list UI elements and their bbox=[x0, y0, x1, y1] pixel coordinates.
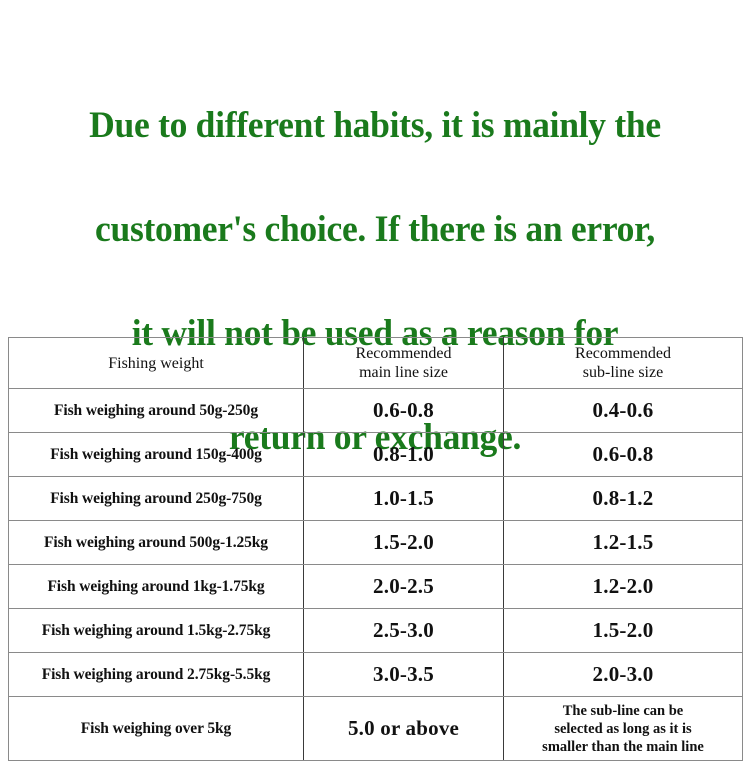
cell-main-line: 3.0-3.5 bbox=[304, 653, 504, 697]
column-header-main-line: Recommended main line size bbox=[304, 338, 504, 389]
cell-sub-line: 0.8-1.2 bbox=[504, 477, 743, 521]
cell-weight: Fish weighing around 500g-1.25kg bbox=[9, 521, 304, 565]
table-row: Fish weighing around 1kg-1.75kg 2.0-2.5 … bbox=[9, 565, 743, 609]
table-row: Fish weighing around 50g-250g 0.6-0.8 0.… bbox=[9, 389, 743, 433]
cell-weight: Fish weighing around 250g-750g bbox=[9, 477, 304, 521]
cell-main-line: 2.5-3.0 bbox=[304, 609, 504, 653]
cell-sub-line: 0.6-0.8 bbox=[504, 433, 743, 477]
cell-main-line: 0.6-0.8 bbox=[304, 389, 504, 433]
cell-sub-line: 1.2-2.0 bbox=[504, 565, 743, 609]
table-row: Fish weighing around 150g-400g 0.8-1.0 0… bbox=[9, 433, 743, 477]
page-title-line-1: Due to different habits, it is mainly th… bbox=[15, 100, 735, 152]
cell-weight: Fish weighing around 150g-400g bbox=[9, 433, 304, 477]
column-header-sub-line: Recommended sub-line size bbox=[504, 338, 743, 389]
cell-sub-line: 2.0-3.0 bbox=[504, 653, 743, 697]
cell-sub-line-note: The sub-line can be selected as long as … bbox=[504, 697, 743, 761]
cell-sub-line: 1.2-1.5 bbox=[504, 521, 743, 565]
column-header-fishing-weight: Fishing weight bbox=[9, 338, 304, 389]
cell-weight: Fish weighing around 1kg-1.75kg bbox=[9, 565, 304, 609]
cell-main-line: 1.0-1.5 bbox=[304, 477, 504, 521]
column-header-main-line-label: Recommended main line size bbox=[308, 344, 499, 382]
table-row: Fish weighing around 2.75kg-5.5kg 3.0-3.… bbox=[9, 653, 743, 697]
table-row: Fish weighing around 1.5kg-2.75kg 2.5-3.… bbox=[9, 609, 743, 653]
cell-main-line: 0.8-1.0 bbox=[304, 433, 504, 477]
table-row: Fish weighing over 5kg 5.0 or above The … bbox=[9, 697, 743, 761]
table-row: Fish weighing around 500g-1.25kg 1.5-2.0… bbox=[9, 521, 743, 565]
cell-weight: Fish weighing over 5kg bbox=[9, 697, 304, 761]
cell-weight: Fish weighing around 1.5kg-2.75kg bbox=[9, 609, 304, 653]
cell-main-line: 2.0-2.5 bbox=[304, 565, 504, 609]
cell-sub-line: 1.5-2.0 bbox=[504, 609, 743, 653]
cell-sub-line: 0.4-0.6 bbox=[504, 389, 743, 433]
cell-weight: Fish weighing around 2.75kg-5.5kg bbox=[9, 653, 304, 697]
page-title-line-2: customer's choice. If there is an error, bbox=[15, 204, 735, 256]
cell-main-line: 5.0 or above bbox=[304, 697, 504, 761]
table-row: Fish weighing around 250g-750g 1.0-1.5 0… bbox=[9, 477, 743, 521]
column-header-sub-line-label: Recommended sub-line size bbox=[508, 344, 738, 382]
table-header-row: Fishing weight Recommended main line siz… bbox=[9, 338, 743, 389]
cell-weight: Fish weighing around 50g-250g bbox=[9, 389, 304, 433]
line-size-table-container: Fishing weight Recommended main line siz… bbox=[8, 337, 742, 761]
column-header-fishing-weight-label: Fishing weight bbox=[13, 354, 299, 373]
cell-main-line: 1.5-2.0 bbox=[304, 521, 504, 565]
infographic-page: Due to different habits, it is mainly th… bbox=[0, 0, 750, 750]
line-size-table: Fishing weight Recommended main line siz… bbox=[8, 337, 743, 761]
